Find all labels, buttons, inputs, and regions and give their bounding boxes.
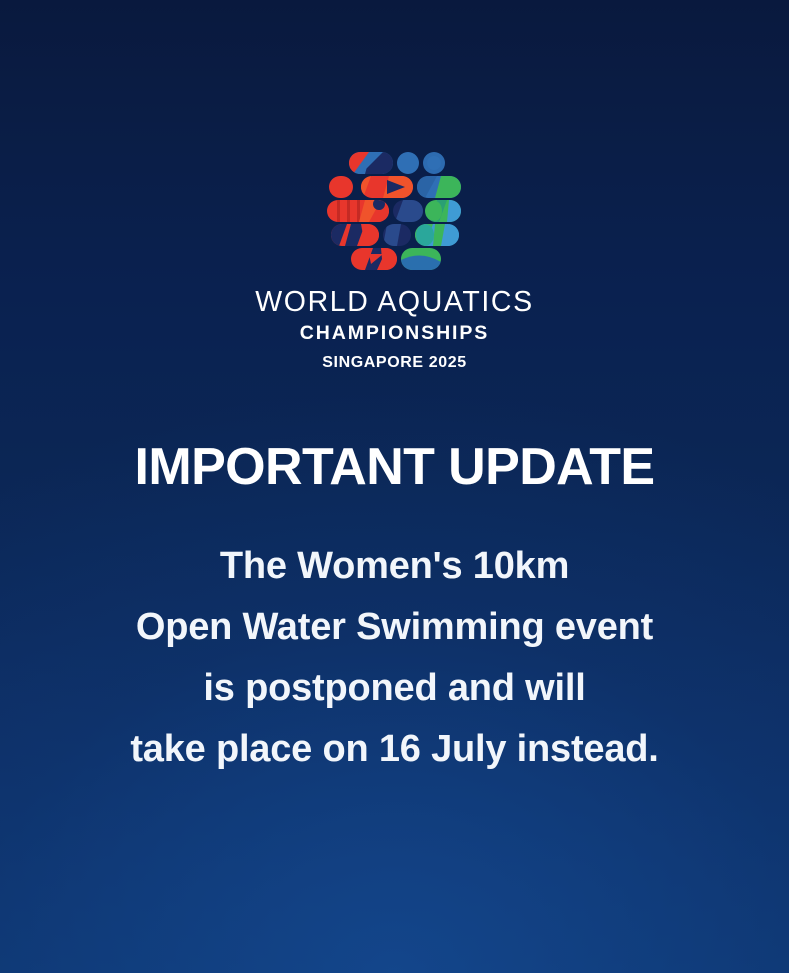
- world-aquatics-logo-icon: [325, 150, 465, 272]
- wordmark-line-singapore-2025: SINGAPORE 2025: [322, 353, 466, 374]
- wordmark-line-championships: CHAMPIONSHIPS: [300, 320, 489, 346]
- announcement-poster: WORLD AQUATICS CHAMPIONSHIPS SINGAPORE 2…: [0, 0, 789, 973]
- message-line-2: Open Water Swimming event: [0, 597, 789, 658]
- message-line-1: The Women's 10km: [0, 536, 789, 597]
- message-line-3: is postponed and will: [0, 658, 789, 719]
- logo-block: WORLD AQUATICS CHAMPIONSHIPS SINGAPORE 2…: [0, 150, 789, 374]
- wordmark-line-world-aquatics: WORLD AQUATICS: [255, 288, 533, 317]
- headline-important-update: IMPORTANT UPDATE: [0, 440, 789, 495]
- announcement-message: The Women's 10km Open Water Swimming eve…: [0, 536, 789, 780]
- logo-wordmark: WORLD AQUATICS CHAMPIONSHIPS SINGAPORE 2…: [255, 288, 533, 374]
- message-line-4: take place on 16 July instead.: [0, 719, 789, 780]
